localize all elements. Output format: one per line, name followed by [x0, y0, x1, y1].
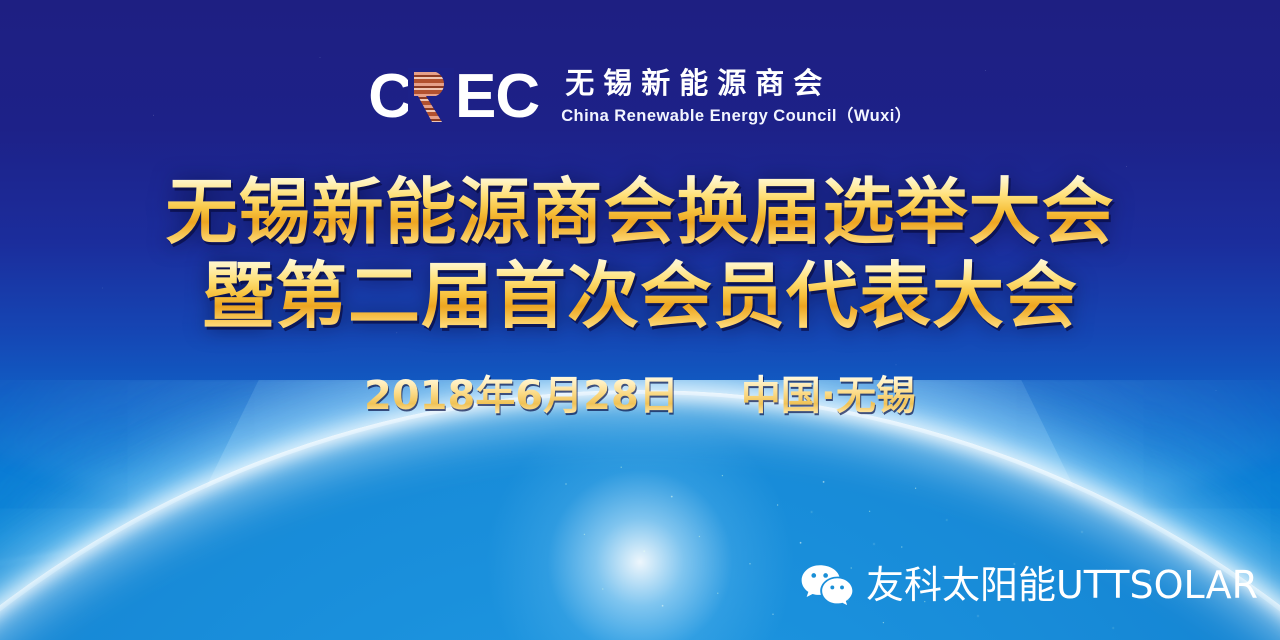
- event-title: 无锡新能源商会换届选举大会 暨第二届首次会员代表大会: [0, 170, 1280, 338]
- event-date: 2018年6月28日: [364, 372, 679, 420]
- organization-name-block: 无锡新能源商会 China Renewable Energy Council（W…: [561, 68, 912, 125]
- crec-wordmark: C E C: [368, 66, 539, 128]
- organization-logo: C E C 无锡新能源商会 China Renewable Energ: [0, 66, 1280, 128]
- wechat-icon: [801, 564, 853, 606]
- crec-letter-e: E: [455, 66, 495, 128]
- wechat-account-name: 友科太阳能UTTSOLAR: [866, 566, 1258, 604]
- organization-name-en: China Renewable Energy Council（Wuxi）: [561, 102, 912, 126]
- light-streak-secondary-decoration: [0, 562, 558, 640]
- event-title-line-2: 暨第二届首次会员代表大会: [0, 254, 1280, 338]
- event-meta: 2018年6月28日 中国·无锡: [0, 372, 1280, 420]
- event-location: 中国·无锡: [741, 372, 916, 420]
- crec-letter-c2: C: [495, 66, 539, 128]
- light-streak-decoration: [0, 461, 636, 583]
- organization-name-cn: 无锡新能源商会: [561, 68, 912, 98]
- event-title-line-1: 无锡新能源商会换届选举大会: [0, 170, 1280, 254]
- r-mask-svg: [408, 68, 454, 126]
- crec-striped-r-icon: [408, 68, 454, 126]
- crec-letter-c1: C: [368, 66, 412, 128]
- event-banner: C E C 无锡新能源商会 China Renewable Energ: [0, 0, 1280, 640]
- wechat-watermark: 友科太阳能UTTSOLAR: [801, 564, 1258, 606]
